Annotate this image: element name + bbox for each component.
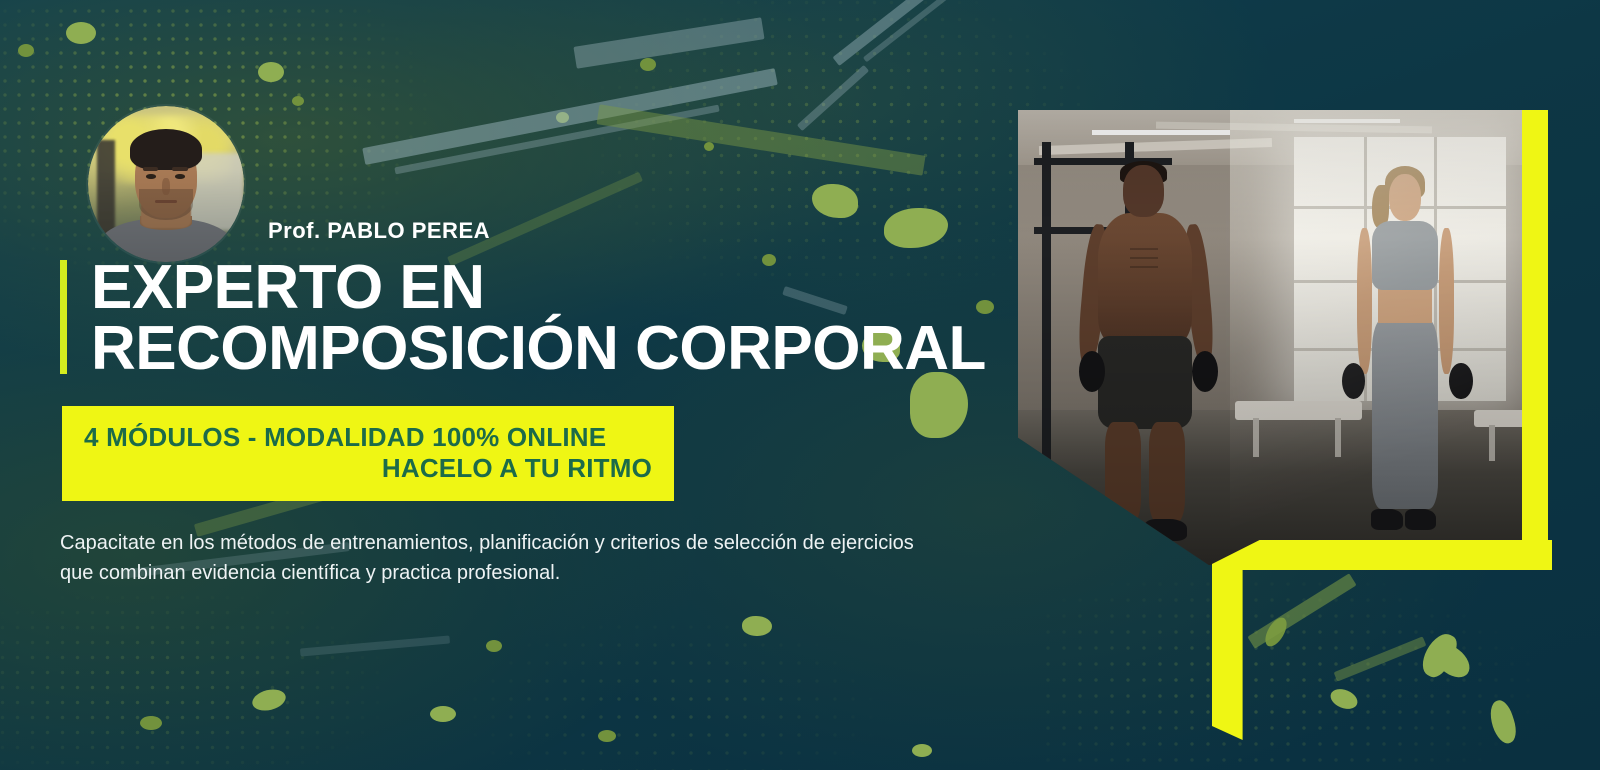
instructor-row: Prof. PABLO PEREA: [88, 106, 490, 262]
yellow-right-bar: [1522, 110, 1548, 565]
accent-bar: [60, 260, 67, 374]
description-text: Capacitate en los métodos de entrenamien…: [60, 528, 930, 589]
promo-banner: Prof. PABLO PEREA EXPERTO EN RECOMPOSICI…: [0, 0, 1600, 770]
badge-line-modules: 4 MÓDULOS - MODALIDAD 100% ONLINE: [84, 422, 652, 453]
banner-content: Prof. PABLO PEREA EXPERTO EN RECOMPOSICI…: [0, 0, 1010, 770]
modules-badge: 4 MÓDULOS - MODALIDAD 100% ONLINE HACELO…: [62, 406, 674, 501]
halftone-pattern: [1040, 560, 1560, 770]
badge-line-pace: HACELO A TU RITMO: [84, 453, 652, 484]
avatar-photo: [88, 106, 244, 262]
headline-block: EXPERTO EN RECOMPOSICIÓN CORPORAL: [60, 258, 1010, 380]
avatar: [88, 106, 244, 262]
page-title: EXPERTO EN RECOMPOSICIÓN CORPORAL: [91, 258, 1010, 380]
avatar-shading: [88, 106, 244, 262]
